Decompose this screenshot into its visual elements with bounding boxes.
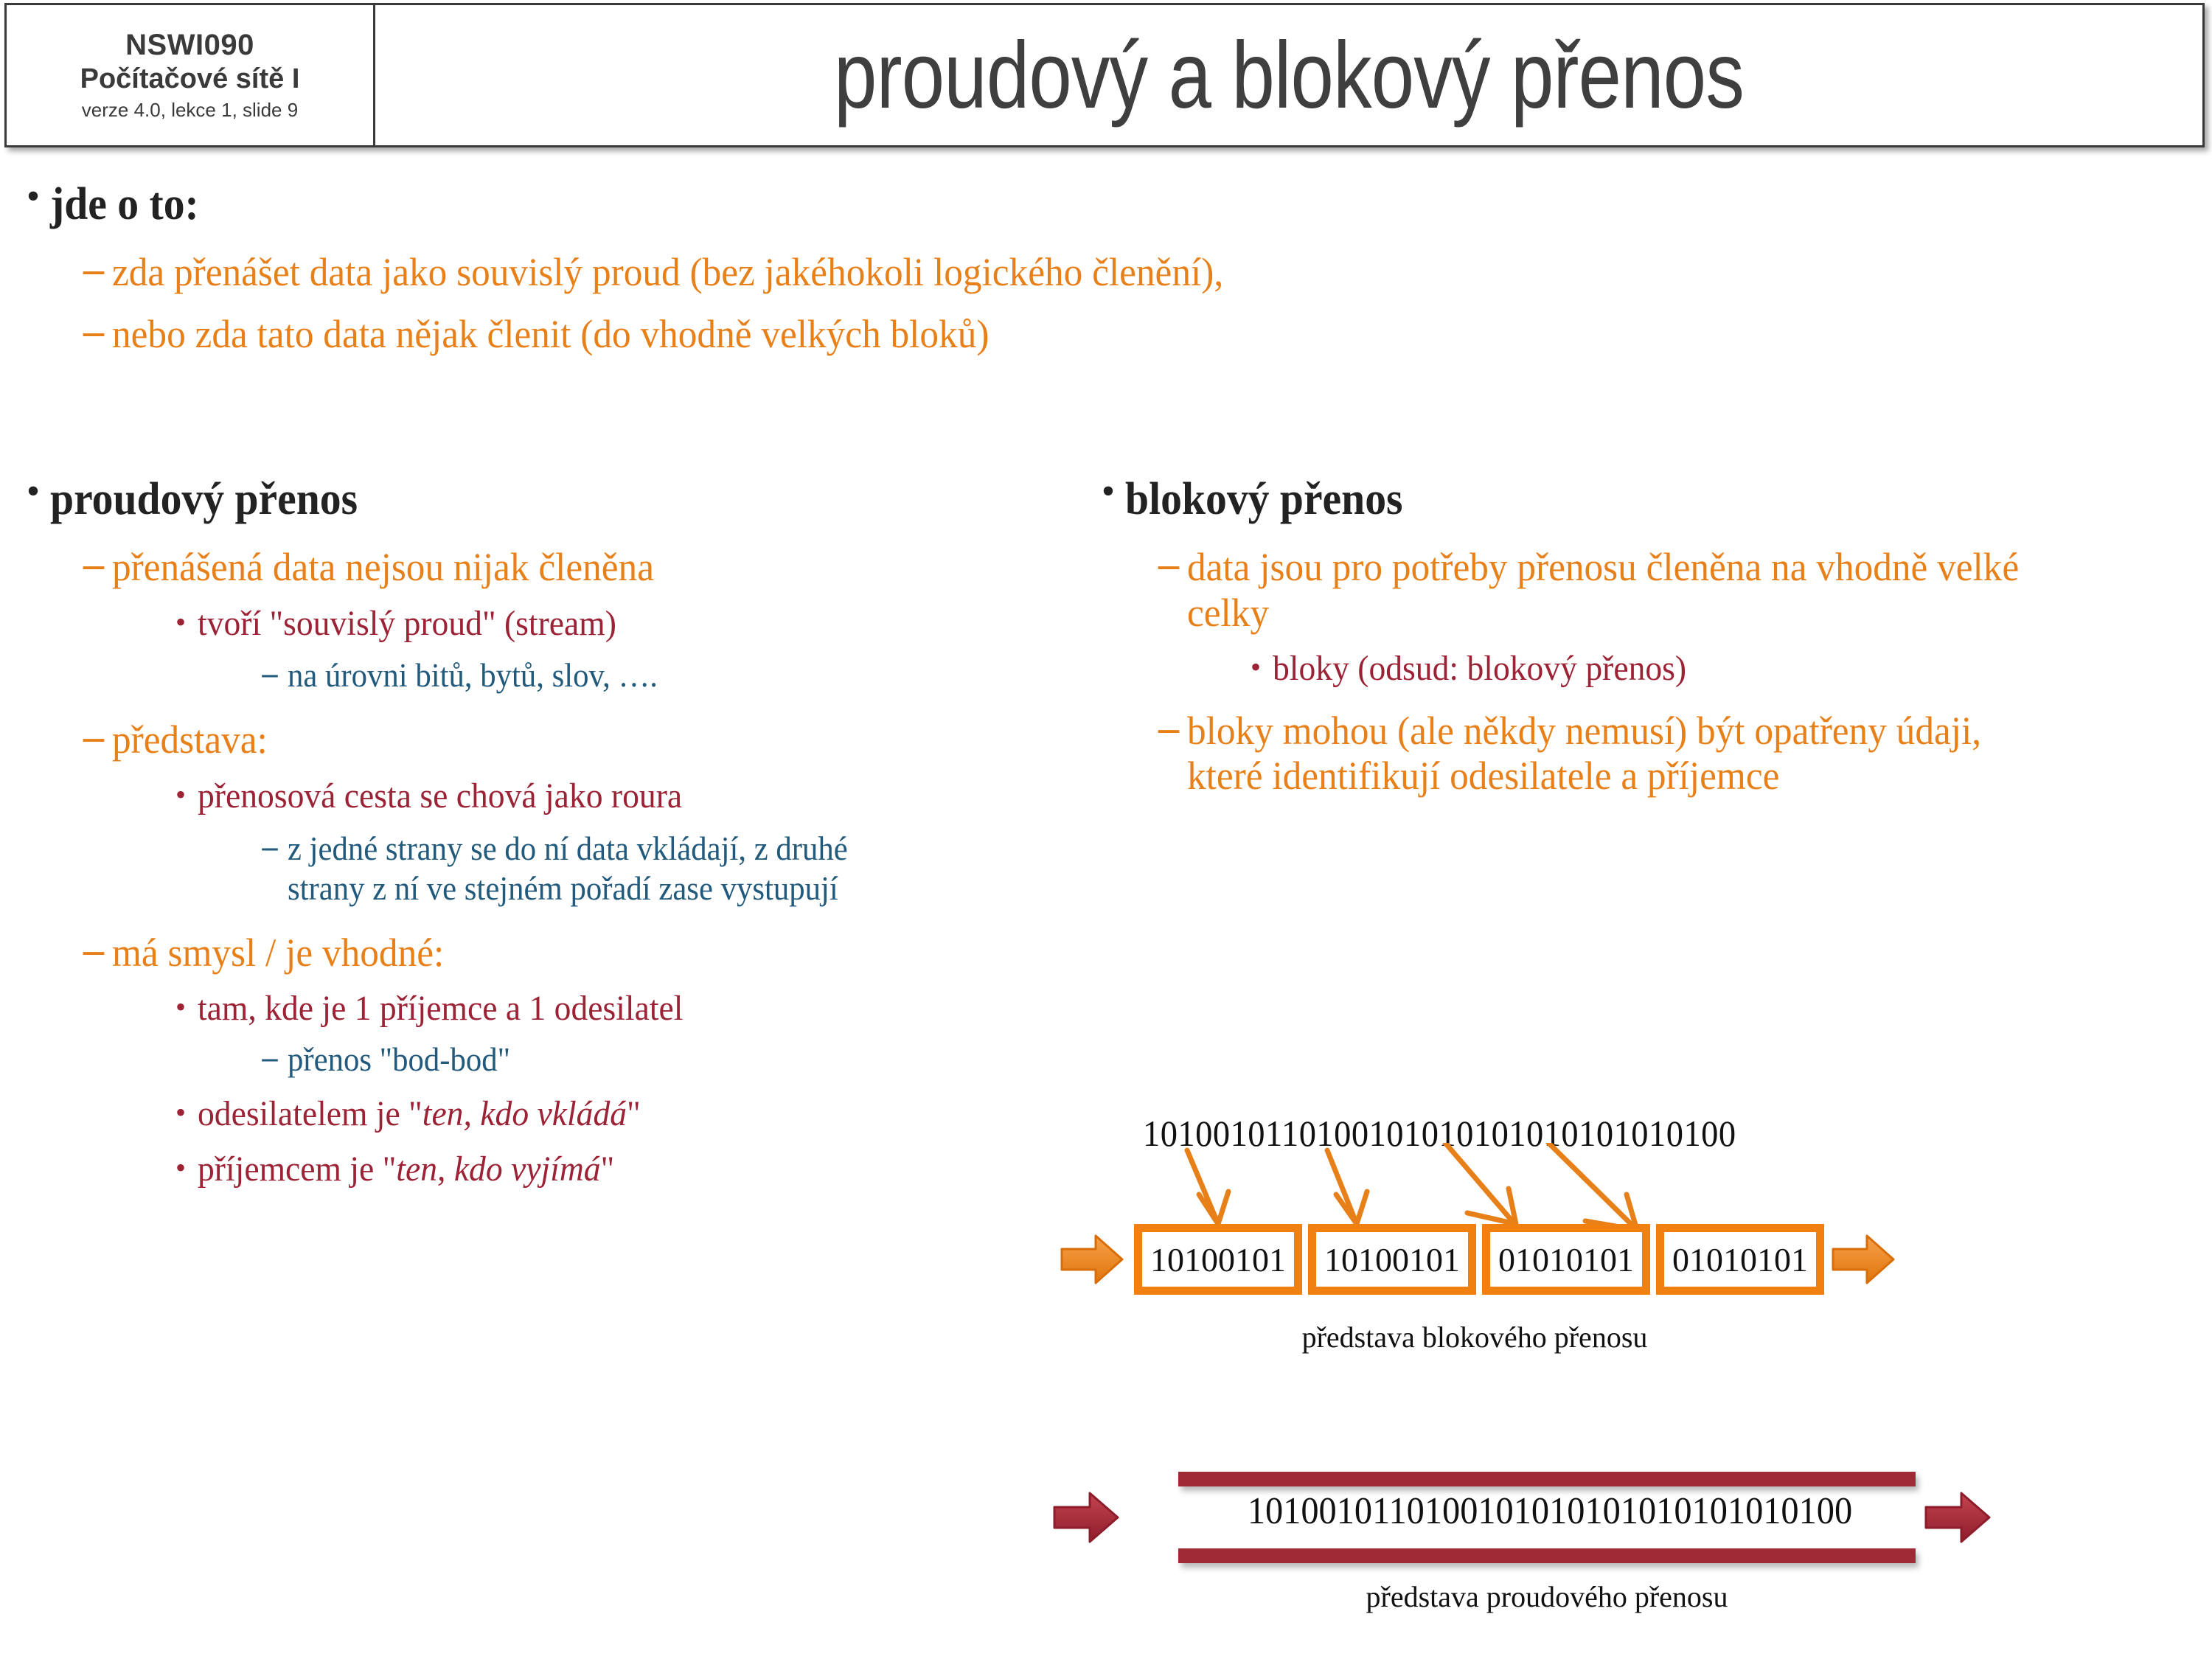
left-item-b1-subsub-label: na úrovni bitů, bytů, slov, …. <box>288 655 1032 695</box>
bullet-dot-icon: • <box>164 1094 198 1131</box>
right-column: • blokový přenos – data jsou pro potřeby… <box>1091 472 2138 799</box>
split-arrow-3-icon <box>1445 1143 1512 1220</box>
course-name: Počítačové sítě I <box>80 63 300 95</box>
slide-header: NSWI090 Počítačové sítě I verze 4.0, lek… <box>4 3 2205 147</box>
bullet-dash-icon: – <box>1150 709 1187 748</box>
left-heading-row: • proudový přenos <box>16 473 1071 526</box>
sender-pre: odesilatelem je " <box>198 1094 422 1133</box>
left-item-b1-subsub: – na úrovni bitů, bytů, slov, …. <box>252 655 1071 695</box>
block-cell-0: 10100101 <box>1134 1224 1302 1295</box>
bullet-dash-icon: – <box>1150 545 1187 584</box>
right-item-b1-sub: • bloky (odsud: blokový přenos) <box>1239 649 2138 689</box>
stream-figure-caption: představa proudového přenosu <box>1178 1579 1916 1614</box>
left-item-b2-subsub: – z jedné strany se do ní data vkládají,… <box>252 829 1071 908</box>
block-figure-caption: představa blokového přenosu <box>1150 1320 1799 1354</box>
left-item-b2-sub: • přenosová cesta se chová jako roura <box>164 776 1071 817</box>
left-item-b3-sub3: • příjemcem je "ten, kdo vyjímá" <box>164 1150 1071 1190</box>
bullet-dot-icon: • <box>164 1150 198 1186</box>
bullet-dash-icon: – <box>75 545 112 584</box>
block-cell-2: 01010101 <box>1482 1224 1650 1295</box>
sender-emphasis: ten, kdo vkládá <box>422 1094 627 1133</box>
left-item-b3-label: má smysl / je vhodné: <box>112 931 1023 976</box>
left-item-b3: – má smysl / je vhodné: <box>75 931 1071 976</box>
stream-rail-bottom <box>1178 1548 1916 1563</box>
intro-block: • jde o to: – zda přenášet data jako sou… <box>16 177 2096 357</box>
right-item-b1: – data jsou pro potřeby přenosu členěna … <box>1150 545 2138 636</box>
right-heading-row: • blokový přenos <box>1091 473 2138 526</box>
bullet-dot-icon: • <box>1091 473 1125 509</box>
stream-inflow-arrow-icon <box>1053 1489 1119 1545</box>
bullet-dot-icon: • <box>164 776 198 813</box>
block-outflow-arrow-icon <box>1832 1233 1895 1286</box>
left-item-b2-subsub-label: z jedné strany se do ní data vkládají, z… <box>288 829 918 908</box>
left-item-b2-label: představa: <box>112 717 1023 763</box>
intro-heading: jde o to: <box>50 178 1952 231</box>
right-heading: blokový přenos <box>1125 473 2067 526</box>
course-code: NSWI090 <box>125 29 254 62</box>
intro-item-1: – nebo zda tato data nějak členit (do vh… <box>75 312 2096 358</box>
receiver-emphasis: ten, kdo vyjímá <box>396 1150 600 1189</box>
block-transfer-figure: 1010010110100101010101010101010100 10100… <box>1099 1106 2205 1416</box>
stream-outflow-arrow-icon <box>1924 1489 1991 1545</box>
split-arrow-1-icon <box>1187 1150 1217 1220</box>
intro-item-0-label: zda přenášet data jako souvislý proud (b… <box>112 250 1997 296</box>
receiver-post: " <box>601 1150 615 1189</box>
receiver-pre: příjemcem je " <box>198 1150 396 1189</box>
bullet-dot-icon: • <box>164 604 198 641</box>
bullet-dash-icon: – <box>75 717 112 757</box>
left-item-b1: – přenášená data nejsou nijak členěna <box>75 545 1071 591</box>
left-item-b3-sub2: • odesilatelem je "ten, kdo vkládá" <box>164 1094 1071 1135</box>
bullet-dot-icon: • <box>1239 649 1273 686</box>
bullet-dash-icon: – <box>75 312 112 351</box>
bullet-dot-icon: • <box>16 473 50 509</box>
sender-post: " <box>627 1094 641 1133</box>
course-logo-box: NSWI090 Počítačové sítě I verze 4.0, lek… <box>7 5 375 145</box>
split-arrow-4-icon <box>1548 1143 1632 1225</box>
left-column: • proudový přenos – přenášená data nejso… <box>16 472 1071 1189</box>
bullet-dot-icon: • <box>16 178 50 215</box>
left-item-b3-sub1-label: tam, kde je 1 příjemce a 1 odesilatel <box>198 989 1027 1029</box>
course-version: verze 4.0, lekce 1, slide 9 <box>82 99 298 122</box>
stream-figure-bitstream: 1010010110100101010101010101010100 <box>1207 1489 1893 1533</box>
left-item-b3-sub1-sub-label: přenos "bod-bod" <box>288 1040 1032 1079</box>
bullet-dash-icon: – <box>252 1040 288 1077</box>
right-item-b1-label: data jsou pro potřeby přenosu členěna na… <box>1187 545 2028 636</box>
page-title: proudový a blokový přenos <box>540 5 2038 145</box>
stream-transfer-figure: 1010010110100101010101010101010100 předs… <box>1099 1460 2205 1644</box>
bullet-dot-icon: • <box>164 989 198 1026</box>
intro-item-0: – zda přenášet data jako souvislý proud … <box>75 250 2096 296</box>
block-cell-3: 01010101 <box>1656 1224 1824 1295</box>
left-item-b3-sub3-label: příjemcem je "ten, kdo vyjímá" <box>198 1150 1027 1190</box>
bullet-dash-icon: – <box>75 931 112 970</box>
split-arrow-2-icon <box>1327 1150 1355 1220</box>
left-item-b2-sub-label: přenosová cesta se chová jako roura <box>198 776 1027 817</box>
stream-rail-top <box>1178 1472 1916 1486</box>
left-item-b1-label: přenášená data nejsou nijak členěna <box>112 545 1023 591</box>
bullet-dash-icon: – <box>252 829 288 866</box>
intro-heading-row: • jde o to: <box>16 178 2096 231</box>
left-item-b3-sub1-sub: – přenos "bod-bod" <box>252 1040 1071 1079</box>
left-item-b3-sub1: • tam, kde je 1 příjemce a 1 odesilatel <box>164 989 1071 1029</box>
right-item-b2-label: bloky mohou (ale někdy nemusí) být opatř… <box>1187 709 2014 799</box>
left-item-b1-sub-label: tvoří "souvislý proud" (stream) <box>198 604 1027 644</box>
intro-item-1-label: nebo zda tato data nějak členit (do vhod… <box>112 312 1997 358</box>
block-cell-1: 10100101 <box>1308 1224 1476 1295</box>
right-item-b1-sub-label: bloky (odsud: blokový přenos) <box>1273 649 2095 689</box>
bullet-dash-icon: – <box>75 250 112 289</box>
right-item-b2: – bloky mohou (ale někdy nemusí) být opa… <box>1150 709 2138 799</box>
block-inflow-arrow-icon <box>1060 1233 1124 1286</box>
left-item-b2: – představa: <box>75 717 1071 763</box>
bullet-dash-icon: – <box>252 655 288 692</box>
left-item-b3-sub2-label: odesilatelem je "ten, kdo vkládá" <box>198 1094 1027 1135</box>
left-heading: proudový přenos <box>50 473 999 526</box>
left-item-b1-sub: • tvoří "souvislý proud" (stream) <box>164 604 1071 644</box>
